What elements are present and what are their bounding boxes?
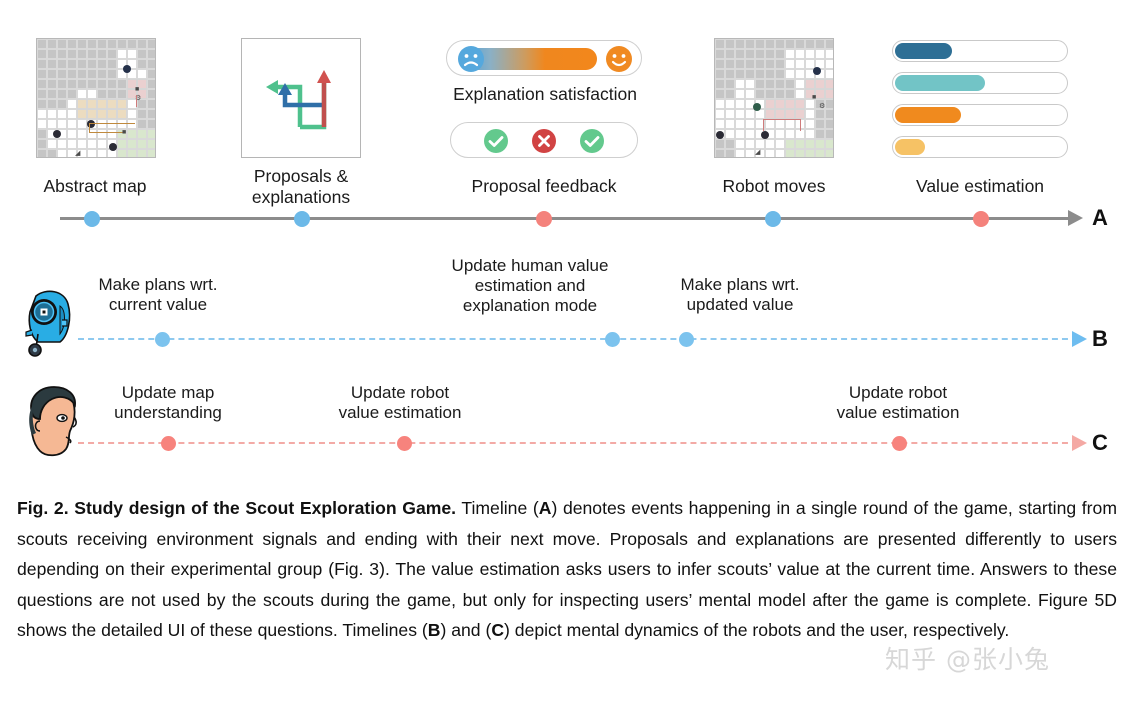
planned-path-alt xyxy=(136,95,137,107)
caption-body-1: Timeline ( xyxy=(456,498,539,518)
timeline-b-event-label: Update human value estimation and explan… xyxy=(430,256,630,316)
scout-marker xyxy=(109,143,117,151)
timeline-b-event-dot[interactable] xyxy=(605,332,620,347)
scout-marker xyxy=(123,65,131,73)
value-bar-fill xyxy=(895,107,961,123)
planned-path xyxy=(763,119,764,131)
sad-face-icon xyxy=(457,45,485,73)
panel-caption-feedback: Proposal feedback xyxy=(430,176,658,197)
panel-caption-abstract-map: Abstract map xyxy=(0,176,190,197)
timeline-b-label: B xyxy=(1092,326,1108,352)
value-bar-fill xyxy=(895,75,985,91)
panel-caption-proposals: Proposals & explanations xyxy=(205,166,397,208)
happy-face-icon xyxy=(605,45,633,73)
panel-caption-satisfaction: Explanation satisfaction xyxy=(416,84,674,105)
planned-path xyxy=(763,119,801,120)
panel-caption-value-estimation: Value estimation xyxy=(880,176,1080,197)
explanation-satisfaction-slider[interactable] xyxy=(446,40,642,76)
timeline-a-event-dot[interactable] xyxy=(294,211,310,227)
flag-marker: ◢ xyxy=(75,150,80,157)
abstract-map-thumbnail: ⚙ ■ ■ ◢ xyxy=(36,38,156,158)
timeline-b-event-dot[interactable] xyxy=(679,332,694,347)
scout-marker xyxy=(813,67,821,75)
timeline-c-event-dot[interactable] xyxy=(161,436,176,451)
timeline-b-event-label: Make plans wrt. current value xyxy=(82,275,234,315)
object-marker: ■ xyxy=(135,86,139,93)
red-proposal-arrow xyxy=(317,70,331,127)
cross-circle-icon[interactable] xyxy=(531,128,557,159)
robot-moves-thumbnail: ■ ⚙ ◢ xyxy=(714,38,834,158)
timeline-c-event-label: Update map understanding xyxy=(92,383,244,423)
timeline-a-event-dot[interactable] xyxy=(765,211,781,227)
value-bar-fill xyxy=(895,139,925,155)
timeline-c-event-label: Update robot value estimation xyxy=(810,383,986,423)
caption-body-3: ) and ( xyxy=(440,620,491,640)
value-bar-fill xyxy=(895,43,952,59)
timeline-c-label: C xyxy=(1092,430,1108,456)
timeline-b-arrowhead xyxy=(1072,331,1087,347)
planned-path xyxy=(89,132,125,133)
figure-root: ⚙ ■ ■ ◢ Abstract map xyxy=(0,0,1134,702)
value-bar-row[interactable] xyxy=(892,40,1068,62)
check-circle-icon[interactable] xyxy=(483,128,509,159)
timeline-c-arrowhead xyxy=(1072,435,1087,451)
timeline-a-event-dot[interactable] xyxy=(973,211,989,227)
timeline-a-axis xyxy=(60,217,1070,220)
planned-path xyxy=(800,119,801,131)
timeline-b-axis xyxy=(78,338,1078,340)
proposal-arrows-svg xyxy=(242,39,360,157)
check-circle-icon[interactable] xyxy=(579,128,605,159)
value-bar-row[interactable] xyxy=(892,72,1068,94)
value-bar-row[interactable] xyxy=(892,136,1068,158)
tool-marker: ■ xyxy=(122,129,126,136)
value-bar-row[interactable] xyxy=(892,104,1068,126)
timeline-b-event-dot[interactable] xyxy=(155,332,170,347)
caption-ref-c: C xyxy=(491,620,504,640)
object-marker: ■ xyxy=(812,94,816,101)
scout-marker xyxy=(753,103,761,111)
timeline-c-event-dot[interactable] xyxy=(397,436,412,451)
figure-caption: Fig. 2. Study design of the Scout Explor… xyxy=(17,493,1117,646)
target-marker: ⚙ xyxy=(819,103,825,110)
proposals-explanations-thumbnail xyxy=(241,38,361,158)
timeline-c-event-dot[interactable] xyxy=(892,436,907,451)
timeline-a-label: A xyxy=(1092,205,1108,231)
planned-path xyxy=(89,123,135,124)
green-proposal-arrow xyxy=(266,77,324,127)
scout-marker xyxy=(53,130,61,138)
timeline-b-event-label: Make plans wrt. updated value xyxy=(664,275,816,315)
human-avatar xyxy=(22,383,82,466)
scout-marker xyxy=(716,131,724,139)
timeline-a-event-dot[interactable] xyxy=(536,211,552,227)
timeline-a-event-dot[interactable] xyxy=(84,211,100,227)
proposal-feedback-widget[interactable] xyxy=(450,122,638,158)
robot-avatar xyxy=(22,286,78,363)
scout-marker xyxy=(761,131,769,139)
caption-body-4: ) depict mental dynamics of the robots a… xyxy=(504,620,1009,640)
timeline-c-axis xyxy=(78,442,1078,444)
caption-bold-title: Fig. 2. Study design of the Scout Explor… xyxy=(17,498,456,518)
timeline-c-event-label: Update robot value estimation xyxy=(312,383,488,423)
caption-body-2: ) denotes events happening in a single r… xyxy=(17,498,1117,640)
timeline-a-arrowhead xyxy=(1068,210,1083,226)
caption-ref-a: A xyxy=(539,498,552,518)
flag-marker: ◢ xyxy=(755,149,760,156)
panel-caption-robot-moves: Robot moves xyxy=(684,176,864,197)
caption-ref-b: B xyxy=(428,620,441,640)
